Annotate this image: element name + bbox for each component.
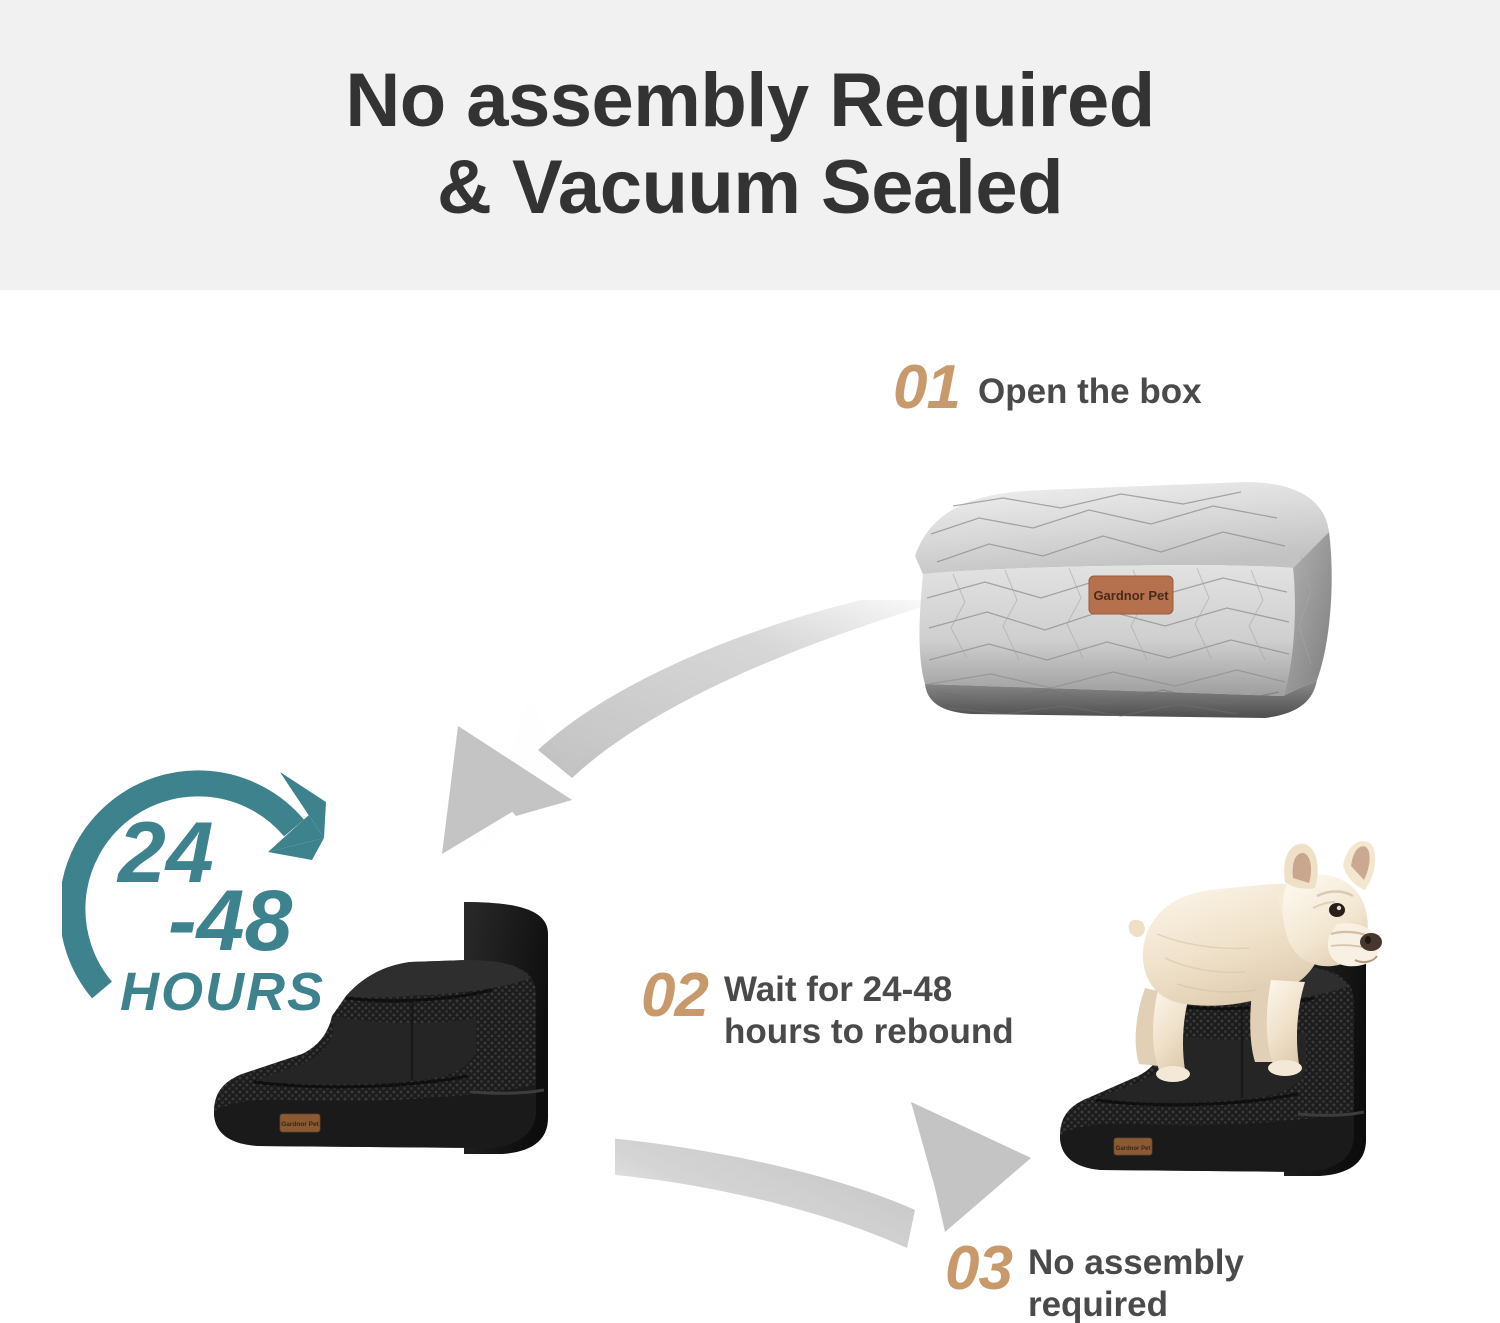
page-title-line-2: & Vacuum Sealed [437,145,1063,232]
french-bulldog [1085,838,1385,1108]
step-label-02: 02 Wait for 24-48 hours to rebound [641,965,1014,1053]
stairs-left-brand-tag: Gardnor Pet [280,1114,320,1132]
step-label-01: 01 Open the box [893,357,1202,419]
package-brand-tag-label: Gardnor Pet [1093,588,1169,603]
flow-arrow-up-right [615,1070,1045,1270]
pet-stairs-left: Gardnor Pet [196,866,596,1210]
stairs-right-brand-tag-label: Gardnor Pet [1116,1146,1151,1152]
page-title-line-1: No assembly Required [345,58,1154,145]
step-number-02: 02 [641,965,708,1027]
step-number-01: 01 [893,357,960,419]
step-text-02: Wait for 24-48 hours to rebound [724,965,1014,1053]
step-text-03: No assembly required [1028,1238,1244,1323]
flow-arrow-down-left [420,600,940,860]
step-text-01: Open the box [978,357,1202,413]
stairs-left-brand-tag-label: Gardnor Pet [281,1121,319,1128]
package-brand-tag: Gardnor Pet [1089,576,1173,614]
header-band: No assembly Required & Vacuum Sealed [0,0,1500,290]
stairs-right-brand-tag: Gardnor Pet [1114,1138,1152,1155]
vacuum-sealed-package: Gardnor Pet [893,470,1353,730]
infographic-page: No assembly Required & Vacuum Sealed 01 … [0,0,1500,1323]
